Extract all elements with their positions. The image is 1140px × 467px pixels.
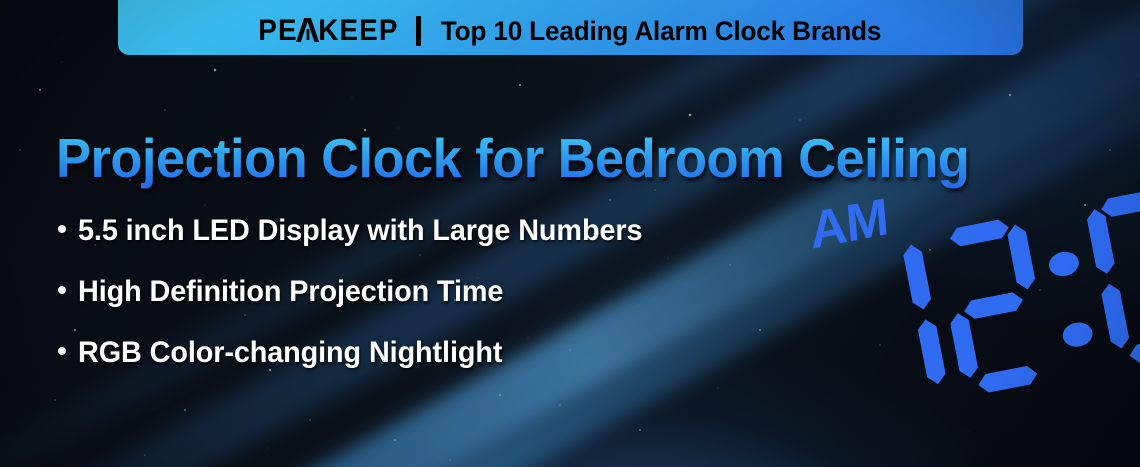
list-item: 5.5 inch LED Display with Large Numbers <box>58 214 666 275</box>
brand-letter-a-icon <box>298 20 317 42</box>
page-title: Projection Clock for Bedroom Ceiling <box>56 126 969 190</box>
feature-text: 5.5 inch LED Display with Large Numbers <box>78 214 642 248</box>
peakeep-logo: PEKEEP <box>258 14 398 48</box>
bullet-point-icon <box>58 347 66 355</box>
list-item: RGB Color-changing Nightlight <box>58 336 666 397</box>
header-content: PEKEEP Top 10 Leading Alarm Clock Brands <box>253 14 889 48</box>
bullet-point-icon <box>58 286 66 294</box>
brand-letters-pre: PE <box>258 14 297 48</box>
header-divider <box>416 16 421 46</box>
header-tagline: Top 10 Leading Alarm Clock Brands <box>441 16 881 47</box>
feature-text: RGB Color-changing Nightlight <box>78 336 502 370</box>
brand-letters-post: KEEP <box>318 14 398 48</box>
header-bar: PEKEEP Top 10 Leading Alarm Clock Brands <box>118 0 1023 55</box>
promo-banner: PEKEEP Top 10 Leading Alarm Clock Brands… <box>0 0 1140 467</box>
led-digit-hour-2 <box>932 215 1054 397</box>
led-digit-hour-1 <box>828 235 950 417</box>
feature-text: High Definition Projection Time <box>78 275 503 309</box>
feature-list: 5.5 inch LED Display with Large Numbers … <box>58 214 666 397</box>
bullet-point-icon <box>58 225 66 233</box>
list-item: High Definition Projection Time <box>58 275 666 336</box>
